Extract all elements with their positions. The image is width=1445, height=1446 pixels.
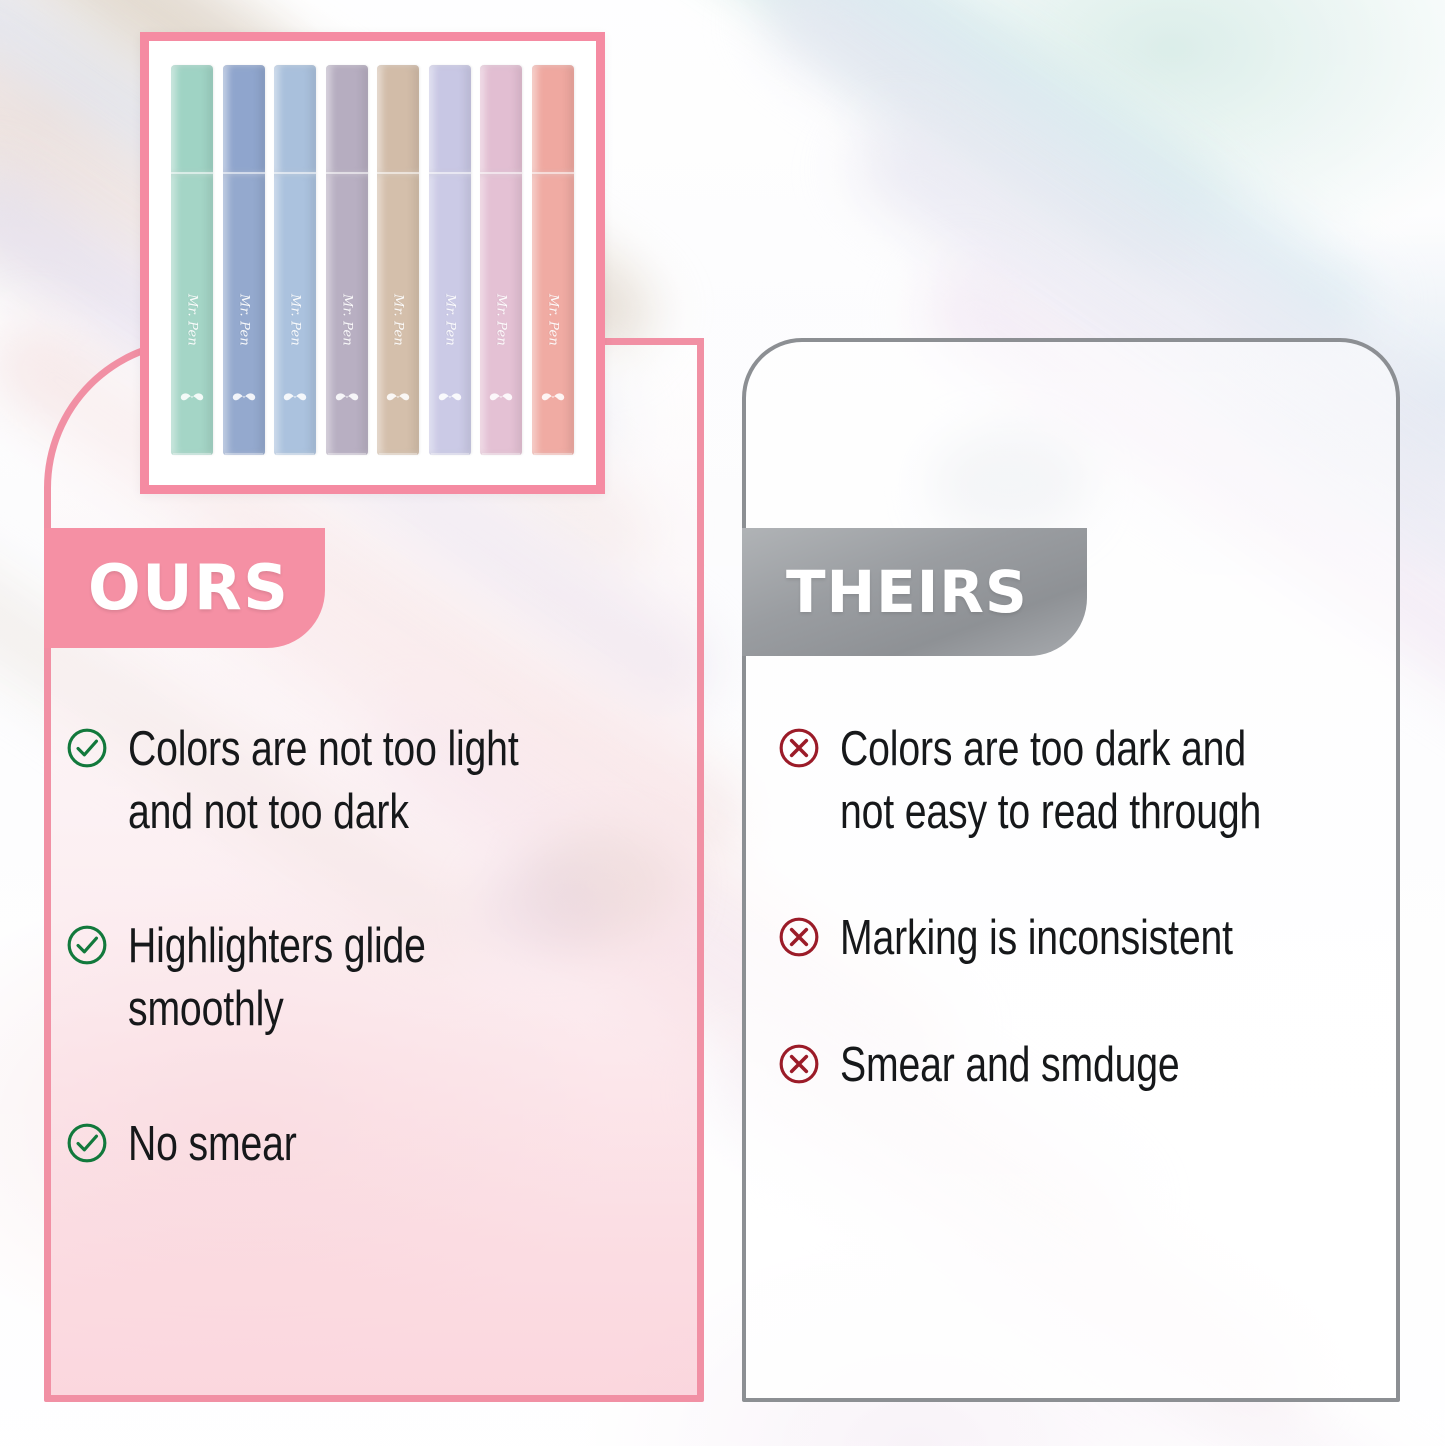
- pen-brand-label: Mr. Pen: [288, 294, 303, 346]
- mustache-icon: [488, 384, 514, 410]
- list-item: No smear: [66, 1113, 676, 1176]
- highlighter-pen: Mr. Pen: [429, 65, 471, 455]
- highlighter-pen: Mr. Pen: [532, 65, 574, 455]
- product-photo-frame: Mr. Pen Mr. Pen Mr. Pen: [140, 32, 605, 494]
- mustache-icon: [540, 384, 566, 410]
- check-circle-icon: [66, 924, 108, 966]
- pen-cap: [480, 65, 522, 174]
- pen-cap: [532, 65, 574, 174]
- mustache-icon: [334, 384, 360, 410]
- theirs-feature-list: Colors are too dark and not easy to read…: [778, 718, 1398, 1097]
- ours-banner: OURS: [44, 528, 325, 648]
- check-circle-icon: [66, 727, 108, 769]
- feature-text: No smear: [128, 1113, 566, 1176]
- pen-brand-label: Mr. Pen: [391, 294, 406, 346]
- cross-circle-icon: [778, 727, 820, 769]
- feature-text: Smear and smduge: [840, 1034, 1286, 1097]
- feature-text: Colors are too dark and not easy to read…: [840, 718, 1286, 843]
- ours-banner-label: OURS: [88, 557, 289, 619]
- mustache-icon: [282, 384, 308, 410]
- list-item: Colors are not too light and not too dar…: [66, 718, 676, 843]
- pen-body: Mr. Pen: [274, 174, 316, 455]
- pen-foot: [225, 453, 263, 455]
- pen-body: Mr. Pen: [429, 174, 471, 455]
- comparison-infographic: Mr. Pen Mr. Pen Mr. Pen: [0, 0, 1445, 1446]
- pen-cap: [377, 65, 419, 174]
- pen-body: Mr. Pen: [377, 174, 419, 455]
- pen-foot: [379, 453, 417, 455]
- pen-body: Mr. Pen: [326, 174, 368, 455]
- pen-foot: [173, 453, 211, 455]
- highlighter-pen: Mr. Pen: [326, 65, 368, 455]
- pen-foot: [534, 453, 572, 455]
- pen-cap: [223, 65, 265, 174]
- mustache-icon: [437, 384, 463, 410]
- list-item: Highlighters glide smoothly: [66, 915, 676, 1040]
- highlighter-pen: Mr. Pen: [223, 65, 265, 455]
- list-item: Smear and smduge: [778, 1034, 1398, 1097]
- pen-body: Mr. Pen: [480, 174, 522, 455]
- pen-foot: [328, 453, 366, 455]
- check-circle-icon: [66, 1122, 108, 1164]
- pen-cap: [429, 65, 471, 174]
- feature-text: Highlighters glide smoothly: [128, 915, 566, 1040]
- mustache-icon: [179, 384, 205, 410]
- pen-body: Mr. Pen: [532, 174, 574, 455]
- pen-cap: [326, 65, 368, 174]
- ours-feature-list: Colors are not too light and not too dar…: [66, 718, 676, 1176]
- cross-circle-icon: [778, 1043, 820, 1085]
- pen-brand-label: Mr. Pen: [185, 294, 200, 346]
- pen-foot: [431, 453, 469, 455]
- pen-cap: [274, 65, 316, 174]
- pen-cap: [171, 65, 213, 174]
- feature-text: Colors are not too light and not too dar…: [128, 718, 566, 843]
- pen-brand-label: Mr. Pen: [494, 294, 509, 346]
- mustache-icon: [231, 384, 257, 410]
- highlighter-pen: Mr. Pen: [377, 65, 419, 455]
- pen-body: Mr. Pen: [171, 174, 213, 455]
- pen-brand-label: Mr. Pen: [339, 294, 354, 346]
- mustache-icon: [385, 384, 411, 410]
- cross-circle-icon: [778, 916, 820, 958]
- feature-text: Marking is inconsistent: [840, 907, 1286, 970]
- pen-body: Mr. Pen: [223, 174, 265, 455]
- highlighter-pen-row: Mr. Pen Mr. Pen Mr. Pen: [163, 51, 582, 471]
- pen-brand-label: Mr. Pen: [442, 294, 457, 346]
- pen-brand-label: Mr. Pen: [236, 294, 251, 346]
- highlighter-pen: Mr. Pen: [171, 65, 213, 455]
- theirs-banner: THEIRS: [742, 528, 1087, 656]
- pen-brand-label: Mr. Pen: [545, 294, 560, 346]
- list-item: Marking is inconsistent: [778, 907, 1398, 970]
- theirs-banner-label: THEIRS: [786, 563, 1028, 621]
- pen-foot: [482, 453, 520, 455]
- pen-foot: [276, 453, 314, 455]
- highlighter-pen: Mr. Pen: [480, 65, 522, 455]
- list-item: Colors are too dark and not easy to read…: [778, 718, 1398, 843]
- highlighter-pen: Mr. Pen: [274, 65, 316, 455]
